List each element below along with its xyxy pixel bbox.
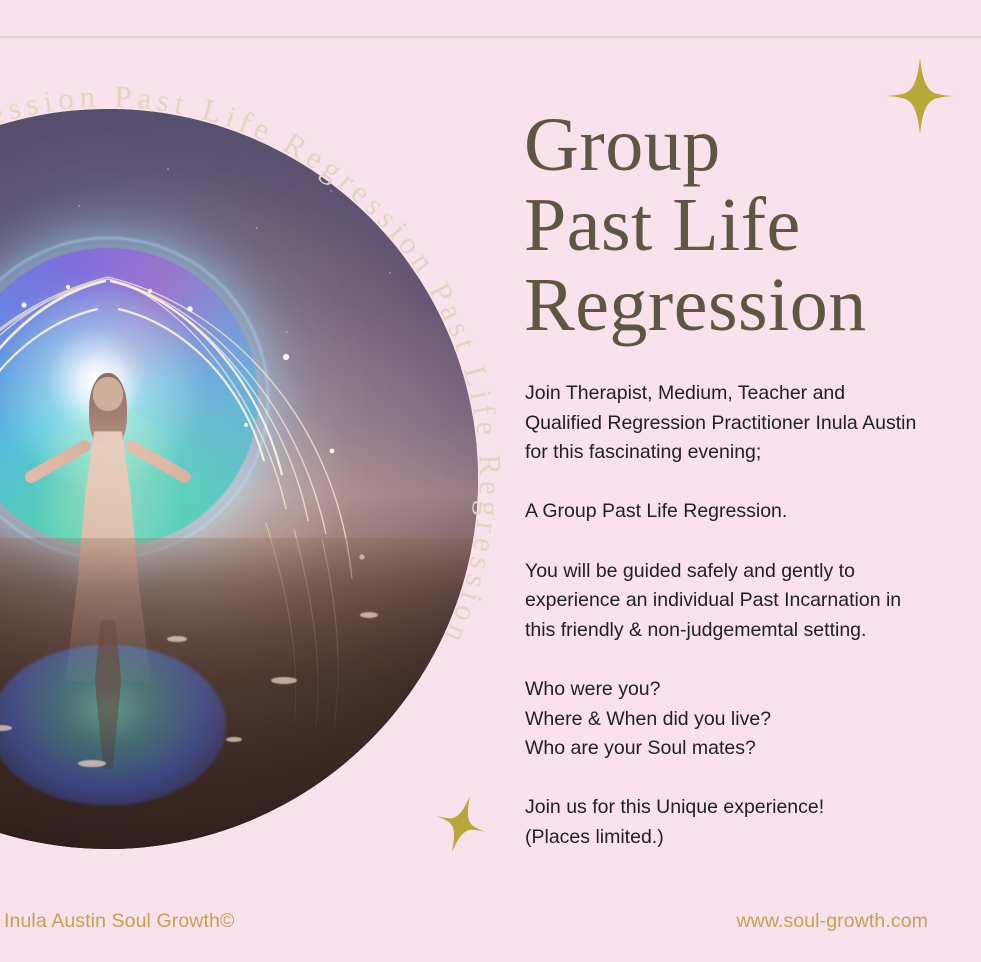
question-2: Where & When did you live? (525, 705, 925, 735)
event-name-paragraph: A Group Past Life Regression. (525, 497, 925, 527)
question-1: Who were you? (525, 675, 925, 705)
footer-website[interactable]: www.soul-growth.com (736, 910, 928, 933)
description-paragraph: You will be guided safely and gently to … (525, 557, 925, 646)
intro-paragraph: Join Therapist, Medium, Teacher and Qual… (525, 379, 925, 468)
figure-head (93, 377, 123, 411)
title-line-3: Regression (524, 265, 964, 345)
poster-canvas: Past Life Regression Past Life Regressio… (0, 0, 981, 962)
body-copy: Join Therapist, Medium, Teacher and Qual… (525, 379, 925, 853)
closing-line-2: (Places limited.) (525, 823, 925, 853)
photo-circle-wrapper (0, 109, 478, 849)
closing-line-1: Join us for this Unique experience! (525, 793, 925, 823)
right-content-column: Group Past Life Regression Join Therapis… (524, 0, 981, 962)
title-line-1: Group (524, 105, 964, 185)
question-3: Who are your Soul mates? (525, 734, 925, 764)
title-line-2: Past Life (524, 185, 964, 265)
photo-circle (0, 109, 478, 849)
footer-credit: Inula Austin Soul Growth© (4, 910, 234, 933)
water-foam (0, 553, 478, 849)
page-title: Group Past Life Regression (524, 105, 964, 345)
